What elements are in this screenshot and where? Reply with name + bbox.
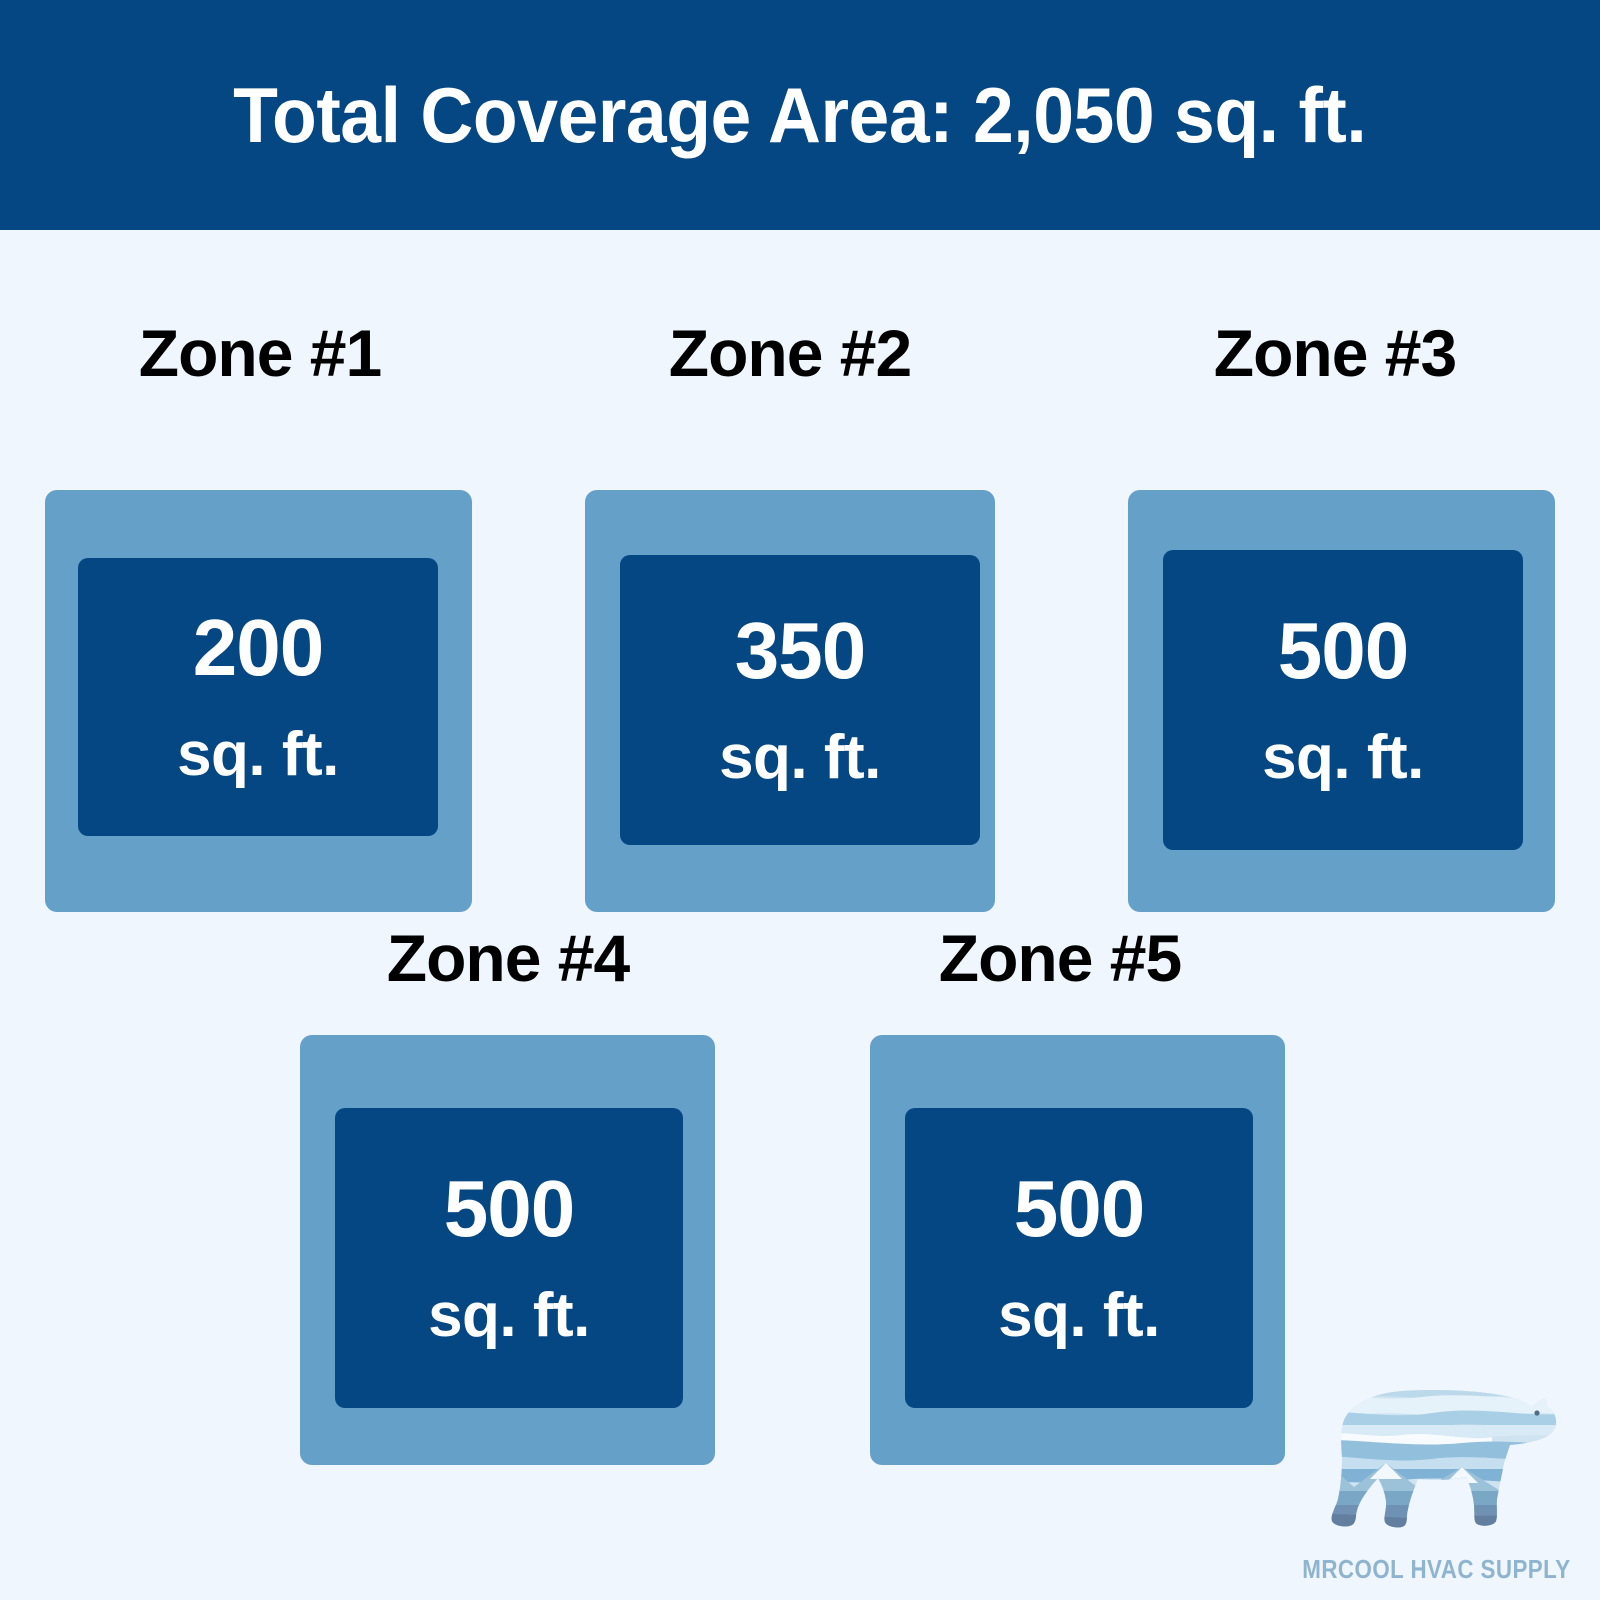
page-title: Total Coverage Area: 2,050 sq. ft.: [233, 76, 1366, 154]
zone-label-5: Zone #5: [800, 925, 1320, 991]
zone-outer-area-4: 500 sq. ft.: [300, 1035, 715, 1465]
zone-inner-area-3: 500 sq. ft.: [1163, 550, 1523, 850]
zone-inner-area-4: 500 sq. ft.: [335, 1108, 683, 1408]
zone-unit-3: sq. ft.: [1262, 727, 1424, 789]
zone-label-4: Zone #4: [248, 925, 768, 991]
zone-inner-area-2: 350 sq. ft.: [620, 555, 980, 845]
zone-unit-1: sq. ft.: [177, 724, 339, 786]
zone-unit-4: sq. ft.: [428, 1285, 590, 1347]
brand-name: MRCOOL HVAC SUPPLY: [1302, 1556, 1551, 1582]
zone-outer-area-1: 200 sq. ft.: [45, 490, 472, 912]
zone-outer-area-2: 350 sq. ft.: [585, 490, 995, 912]
zone-value-1: 200: [193, 608, 323, 688]
zone-inner-area-1: 200 sq. ft.: [78, 558, 438, 836]
zone-outer-area-3: 500 sq. ft.: [1128, 490, 1555, 912]
zone-value-3: 500: [1278, 611, 1408, 691]
bear-eye-icon: [1534, 1410, 1539, 1415]
zone-value-5: 500: [1014, 1169, 1144, 1249]
zone-label-2: Zone #2: [530, 320, 1050, 386]
polar-bear-icon: [1282, 1375, 1572, 1545]
header-banner: Total Coverage Area: 2,050 sq. ft.: [0, 0, 1600, 230]
zone-label-1: Zone #1: [0, 320, 520, 386]
zone-unit-2: sq. ft.: [719, 727, 881, 789]
zone-unit-5: sq. ft.: [998, 1285, 1160, 1347]
zone-outer-area-5: 500 sq. ft.: [870, 1035, 1285, 1465]
zone-label-3: Zone #3: [1075, 320, 1595, 386]
zone-value-2: 350: [735, 611, 865, 691]
zone-inner-area-5: 500 sq. ft.: [905, 1108, 1253, 1408]
brand-logo: MRCOOL HVAC SUPPLY: [1282, 1375, 1572, 1590]
zone-value-4: 500: [444, 1169, 574, 1249]
